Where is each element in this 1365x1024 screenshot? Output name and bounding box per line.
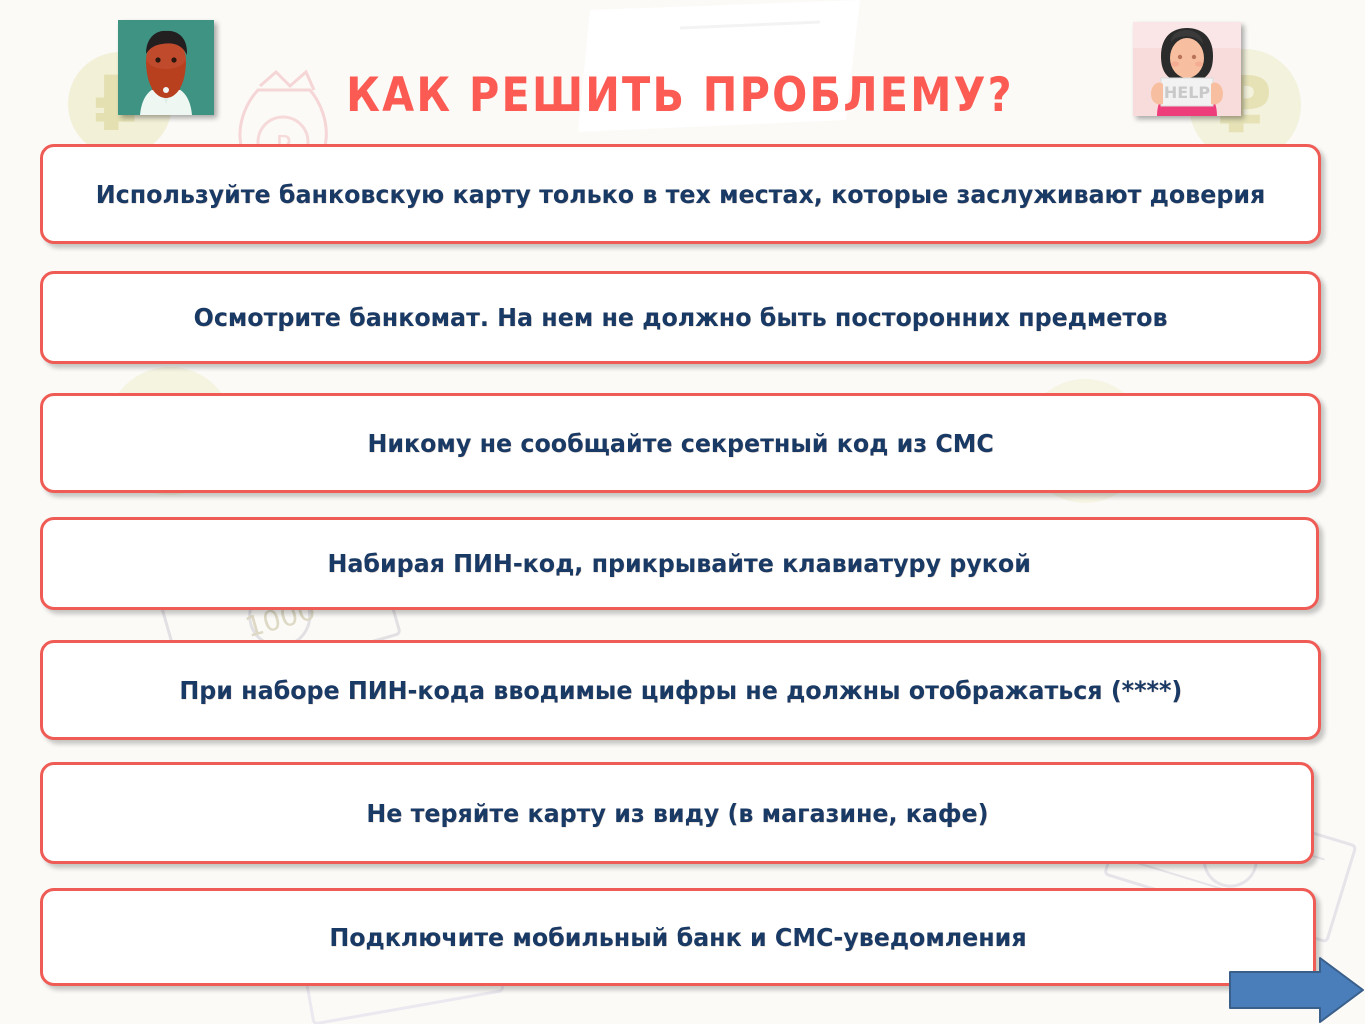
tip-box: Не теряйте карту из виду (в магазине, ка… [40,762,1314,864]
tip-box: Используйте банковскую карту только в те… [40,144,1321,244]
tip-text: Набирая ПИН-код, прикрывайте клавиатуру … [313,540,1047,587]
tip-text: При наборе ПИН-кода вводимые цифры не до… [164,667,1197,714]
tip-box: Осмотрите банкомат. На нем не должно быт… [40,271,1321,364]
next-arrow-icon[interactable] [1228,956,1365,1024]
slide-canvas: ₽ ₽ ₽ [0,0,1365,1024]
tip-box: При наборе ПИН-кода вводимые цифры не до… [40,640,1321,740]
tip-box: Никому не сообщайте секретный код из СМС [40,393,1321,493]
tip-text: Не теряйте карту из виду (в магазине, ка… [351,790,1003,837]
tip-text: Подключите мобильный банк и СМС-уведомле… [314,914,1042,961]
tip-text: Осмотрите банкомат. На нем не должно быт… [178,294,1182,341]
tip-box: Подключите мобильный банк и СМС-уведомле… [40,888,1316,986]
tip-text: Никому не сообщайте секретный код из СМС [352,420,1009,467]
tip-box: Набирая ПИН-код, прикрывайте клавиатуру … [40,517,1319,610]
tip-text: Используйте банковскую карту только в те… [81,171,1281,218]
tips-list: Используйте банковскую карту только в те… [0,0,1365,1024]
